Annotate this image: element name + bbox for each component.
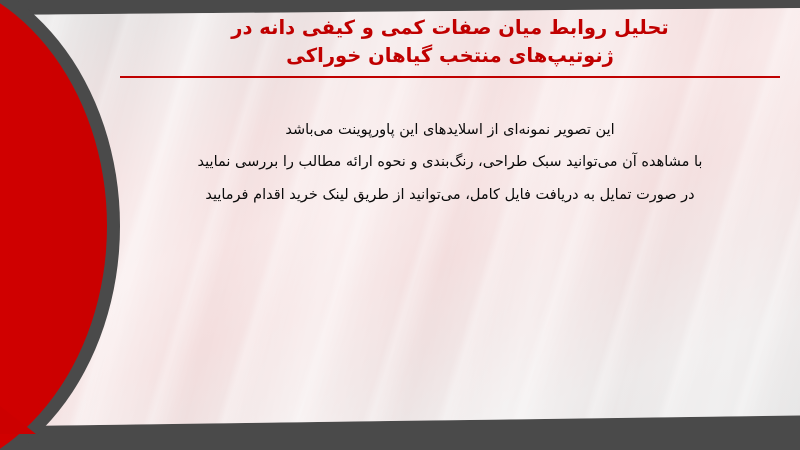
slide-content: تحلیل روابط میان صفات کمی و کیفی دانه در…: [120, 10, 780, 420]
body-text-line-2: با مشاهده آن می‌توانید سبک طراحی، رنگ‌بن…: [120, 146, 780, 179]
slide-body-text: این تصویر نمونه‌ای از اسلایدهای این پاور…: [120, 114, 780, 212]
body-text-line-3: در صورت تمایل به دریافت فایل کامل، می‌تو…: [120, 179, 780, 212]
title-underline-rule: [120, 76, 780, 78]
body-text-line-1: این تصویر نمونه‌ای از اسلایدهای این پاور…: [120, 114, 780, 147]
slide-title-line-2: ژنوتیپ‌های منتخب گیاهان خوراکی: [120, 42, 780, 70]
presentation-slide: تحلیل روابط میان صفات کمی و کیفی دانه در…: [0, 0, 800, 450]
slide-title-line-1: تحلیل روابط میان صفات کمی و کیفی دانه در: [120, 14, 780, 42]
slide-title: تحلیل روابط میان صفات کمی و کیفی دانه در…: [120, 10, 780, 71]
